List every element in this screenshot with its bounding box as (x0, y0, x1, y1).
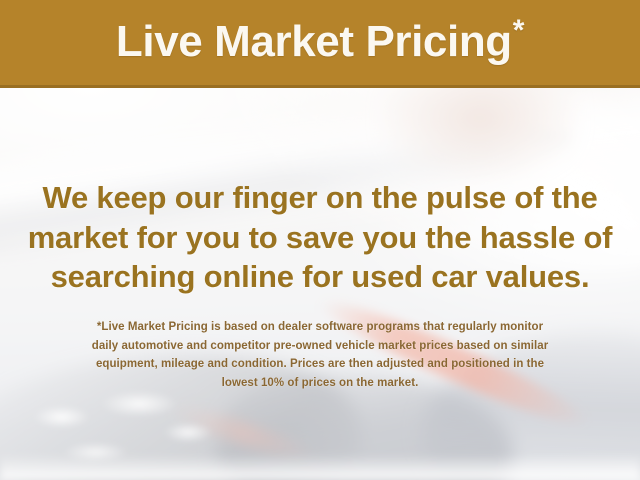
headline-line-1: We keep our finger on the pulse of the (24, 178, 616, 218)
disclaimer-line-2: daily automotive and competitor pre-owne… (28, 337, 612, 356)
headline-block: We keep our finger on the pulse of the m… (0, 178, 640, 297)
page-title-text: Live Market Pricing (116, 17, 512, 66)
disclaimer-line-3: equipment, mileage and condition. Prices… (28, 355, 612, 374)
disclaimer-line-1: *Live Market Pricing is based on dealer … (28, 318, 612, 337)
disclaimer-block: *Live Market Pricing is based on dealer … (0, 318, 640, 393)
header-band: Live Market Pricing* (0, 0, 640, 88)
page-title: Live Market Pricing* (116, 20, 524, 68)
live-market-pricing-slide: Live Market Pricing* We keep our finger … (0, 0, 640, 480)
disclaimer-line-4: lowest 10% of prices on the market. (28, 374, 612, 393)
page-title-asterisk: * (513, 14, 524, 47)
photo-bottom-glint (0, 454, 640, 480)
headline-line-3: searching online for used car values. (24, 257, 616, 297)
headline-line-2: market for you to save you the hassle of (24, 218, 616, 258)
